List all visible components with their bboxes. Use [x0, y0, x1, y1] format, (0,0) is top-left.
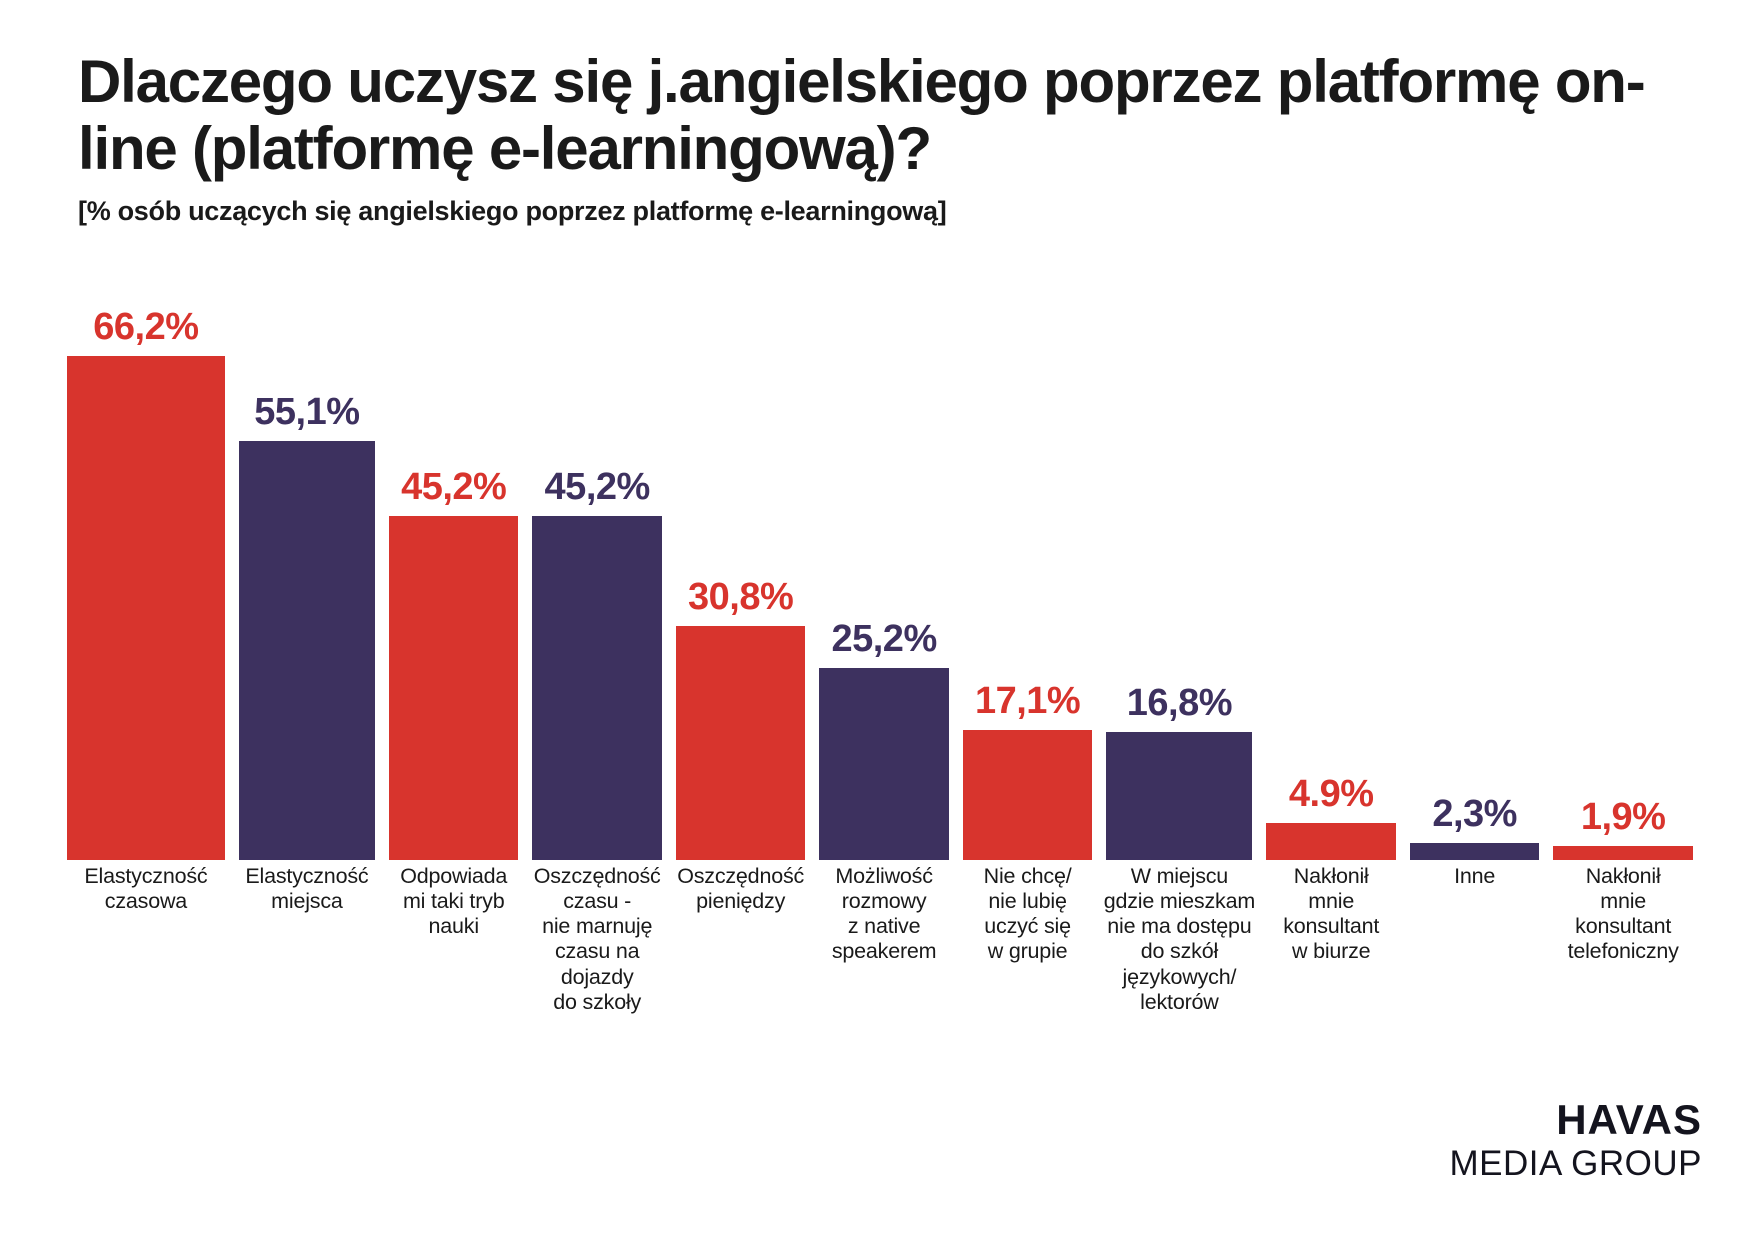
page-title: Dlaczego uczysz się j.angielskiego poprz… — [78, 48, 1678, 182]
bar[interactable] — [389, 516, 518, 860]
bar-slot: 45,2% — [382, 300, 525, 860]
bar-series: 66,2%55,1%45,2%45,2%30,8%25,2%17,1%16,8%… — [60, 300, 1700, 860]
x-axis-label: Inne — [1403, 864, 1546, 889]
logo-media-group-text: MEDIA GROUP — [1450, 1145, 1702, 1184]
x-axis-label: Możliwość rozmowy z native speakerem — [812, 864, 955, 965]
bar-slot: 55,1% — [232, 300, 382, 860]
bar-slot: 2,3% — [1403, 300, 1546, 860]
bar-value-label: 4.9% — [1289, 775, 1374, 813]
x-axis-label: Oszczędność czasu - nie marnuję czasu na… — [525, 864, 668, 1015]
bar-value-label: 17,1% — [975, 682, 1080, 720]
bar[interactable] — [1553, 846, 1692, 860]
bar-value-label: 25,2% — [831, 620, 936, 658]
havas-media-group-logo: HAVAS MEDIA GROUP — [1450, 1099, 1702, 1184]
bar-slot: 30,8% — [669, 300, 812, 860]
bar-slot: 1,9% — [1546, 300, 1699, 860]
bar-value-label: 45,2% — [401, 468, 506, 506]
bar[interactable] — [819, 668, 948, 860]
bar[interactable] — [676, 626, 805, 860]
bar[interactable] — [67, 356, 225, 860]
bar-value-label: 66,2% — [93, 308, 198, 346]
x-axis-labels: Elastyczność czasowaElastyczność miejsca… — [60, 864, 1700, 1015]
bar-slot: 17,1% — [956, 300, 1099, 860]
bar-value-label: 16,8% — [1127, 684, 1232, 722]
bar[interactable] — [532, 516, 661, 860]
bar[interactable] — [239, 441, 375, 860]
plot-area: 66,2%55,1%45,2%45,2%30,8%25,2%17,1%16,8%… — [60, 300, 1700, 860]
logo-havas-text: HAVAS — [1450, 1099, 1702, 1141]
bar-slot: 66,2% — [60, 300, 232, 860]
bar[interactable] — [1106, 732, 1252, 860]
bar[interactable] — [963, 730, 1092, 860]
x-axis-label: Elastyczność miejsca — [232, 864, 382, 914]
chart-page: Dlaczego uczysz się j.angielskiego poprz… — [0, 0, 1754, 1241]
x-axis-label: Nie chcę/ nie lubię uczyć się w grupie — [956, 864, 1099, 965]
chart-header: Dlaczego uczysz się j.angielskiego poprz… — [78, 48, 1678, 227]
bar-value-label: 45,2% — [545, 468, 650, 506]
bar-slot: 45,2% — [525, 300, 668, 860]
x-axis-label: Elastyczność czasowa — [60, 864, 232, 914]
bar-value-label: 30,8% — [688, 578, 793, 616]
x-axis-label: Odpowiada mi taki tryb nauki — [382, 864, 525, 939]
x-axis-label: Oszczędność pieniędzy — [669, 864, 812, 914]
bar-slot: 4.9% — [1259, 300, 1402, 860]
x-axis-label: Nakłonił mnie konsultant telefoniczny — [1546, 864, 1699, 965]
bar-value-label: 55,1% — [254, 393, 359, 431]
bar[interactable] — [1266, 823, 1395, 860]
x-axis-label: Nakłonił mnie konsultant w biurze — [1259, 864, 1402, 965]
bar[interactable] — [1410, 843, 1539, 861]
chart-subtitle: [% osób uczących się angielskiego poprze… — [78, 196, 1678, 227]
bar-slot: 25,2% — [812, 300, 955, 860]
bar-value-label: 1,9% — [1581, 798, 1666, 836]
x-axis-label: W miejscu gdzie mieszkam nie ma dostępu … — [1099, 864, 1259, 1015]
bar-slot: 16,8% — [1099, 300, 1259, 860]
bar-value-label: 2,3% — [1432, 795, 1517, 833]
